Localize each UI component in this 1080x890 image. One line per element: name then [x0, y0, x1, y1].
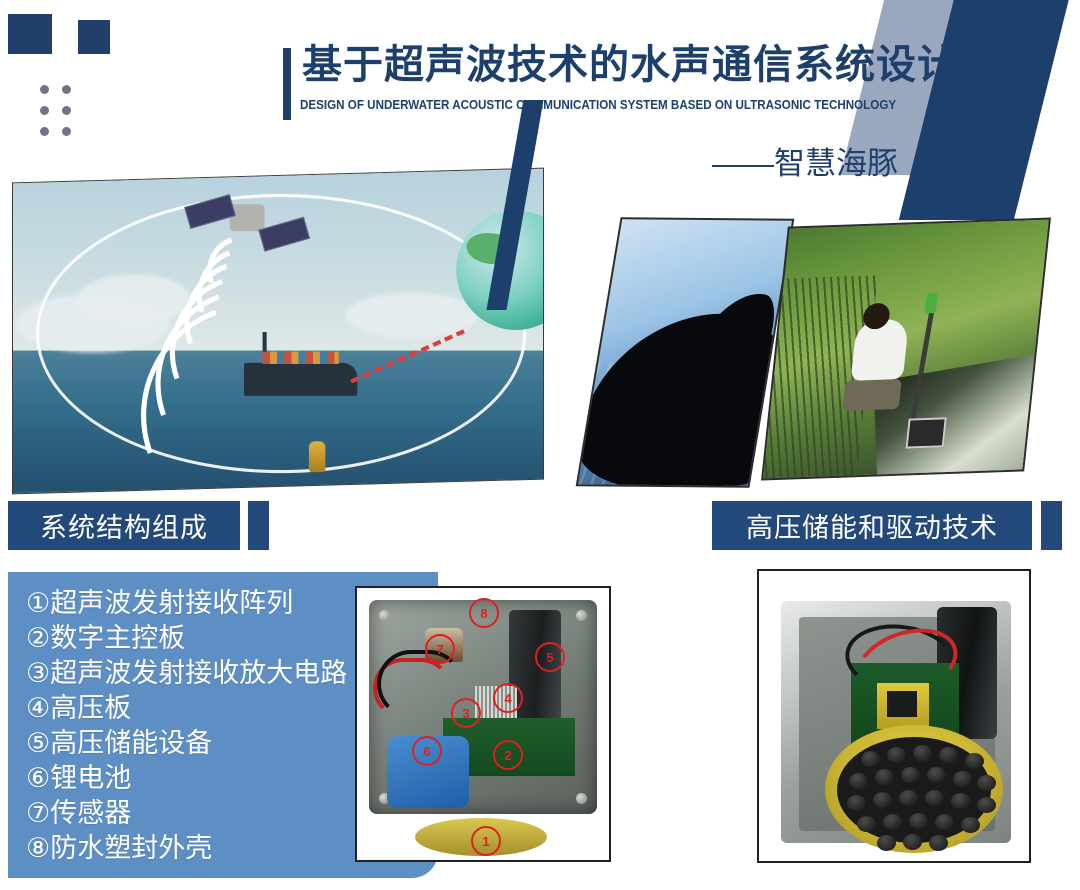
component-list-item-label: 锂电池: [50, 763, 131, 793]
component-list-item-number: ④: [26, 693, 50, 723]
hero-satellite-icon: [230, 204, 265, 231]
section-header-left: 系统结构组成: [8, 501, 240, 550]
team-name: ——智慧海豚: [712, 138, 898, 183]
component-list-item-number: ⑤: [26, 728, 50, 758]
section-header-left-label: 系统结构组成: [40, 506, 208, 545]
slide-canvas: 基于超声波技术的水声通信系统设计 DESIGN OF UNDERWATER AC…: [0, 0, 1080, 890]
callout-4: 4: [493, 683, 523, 713]
callout-1: 1: [471, 826, 501, 856]
high-voltage-module-photo: [757, 569, 1031, 863]
decor-dot-grid: [40, 85, 72, 137]
callout-5: 5: [535, 642, 565, 672]
hv-array-face: [837, 737, 991, 843]
dolphin-photo: [576, 217, 795, 488]
device-screw: [379, 610, 390, 621]
page-title: 基于超声波技术的水声通信系统设计: [302, 42, 958, 88]
component-list-item-label: 防水塑封外壳: [50, 833, 212, 863]
field-sensor-box: [906, 417, 947, 448]
device-black-wire: [377, 650, 463, 718]
component-list-item-number: ①: [26, 588, 50, 618]
hero-image-maritime-communication: [12, 168, 544, 495]
callout-7: 7: [425, 634, 455, 664]
component-list-item-label: 超声波发射接收放大电路: [50, 658, 347, 688]
callout-6: 6: [412, 736, 442, 766]
section-header-right-accent: [1041, 501, 1062, 550]
component-list-item-number: ②: [26, 623, 50, 653]
decor-square-small: [78, 20, 110, 54]
device-screw: [576, 793, 587, 804]
hero-buoy: [309, 441, 325, 472]
page-subtitle-english: DESIGN OF UNDERWATER ACOUSTIC COMMUNICAT…: [300, 98, 896, 112]
hero-cargo-ship: [244, 363, 357, 396]
section-header-right: 高压储能和驱动技术: [712, 501, 1032, 550]
component-list-item-label: 数字主控板: [50, 623, 185, 653]
component-list-item-number: ⑧: [26, 833, 50, 863]
callout-2: 2: [493, 740, 523, 770]
decor-square-large: [8, 14, 52, 54]
hv-transducer-array: [825, 725, 1003, 853]
section-header-right-label: 高压储能和驱动技术: [746, 506, 998, 545]
section-header-left-accent: [248, 501, 269, 550]
component-list-item-label: 高压板: [50, 693, 131, 723]
component-list-item-number: ⑦: [26, 798, 50, 828]
callout-8: 8: [469, 598, 499, 628]
field-probe-tip: [925, 293, 938, 313]
hero-image-content: [12, 171, 544, 490]
component-list-item-label: 高压储能设备: [50, 728, 212, 758]
title-accent-bar: [283, 48, 291, 120]
component-list-item-label: 超声波发射接收阵列: [50, 588, 293, 618]
field-test-photo: [761, 218, 1051, 481]
callout-3: 3: [451, 698, 481, 728]
device-screw: [576, 610, 587, 621]
device-internals-photo: 8 7 5 4 3 6 2 1: [355, 586, 611, 862]
component-list-item-number: ③: [26, 658, 50, 688]
component-list-item-label: 传感器: [50, 798, 131, 828]
component-list-item-number: ⑥: [26, 763, 50, 793]
field-person-legs: [843, 379, 902, 411]
